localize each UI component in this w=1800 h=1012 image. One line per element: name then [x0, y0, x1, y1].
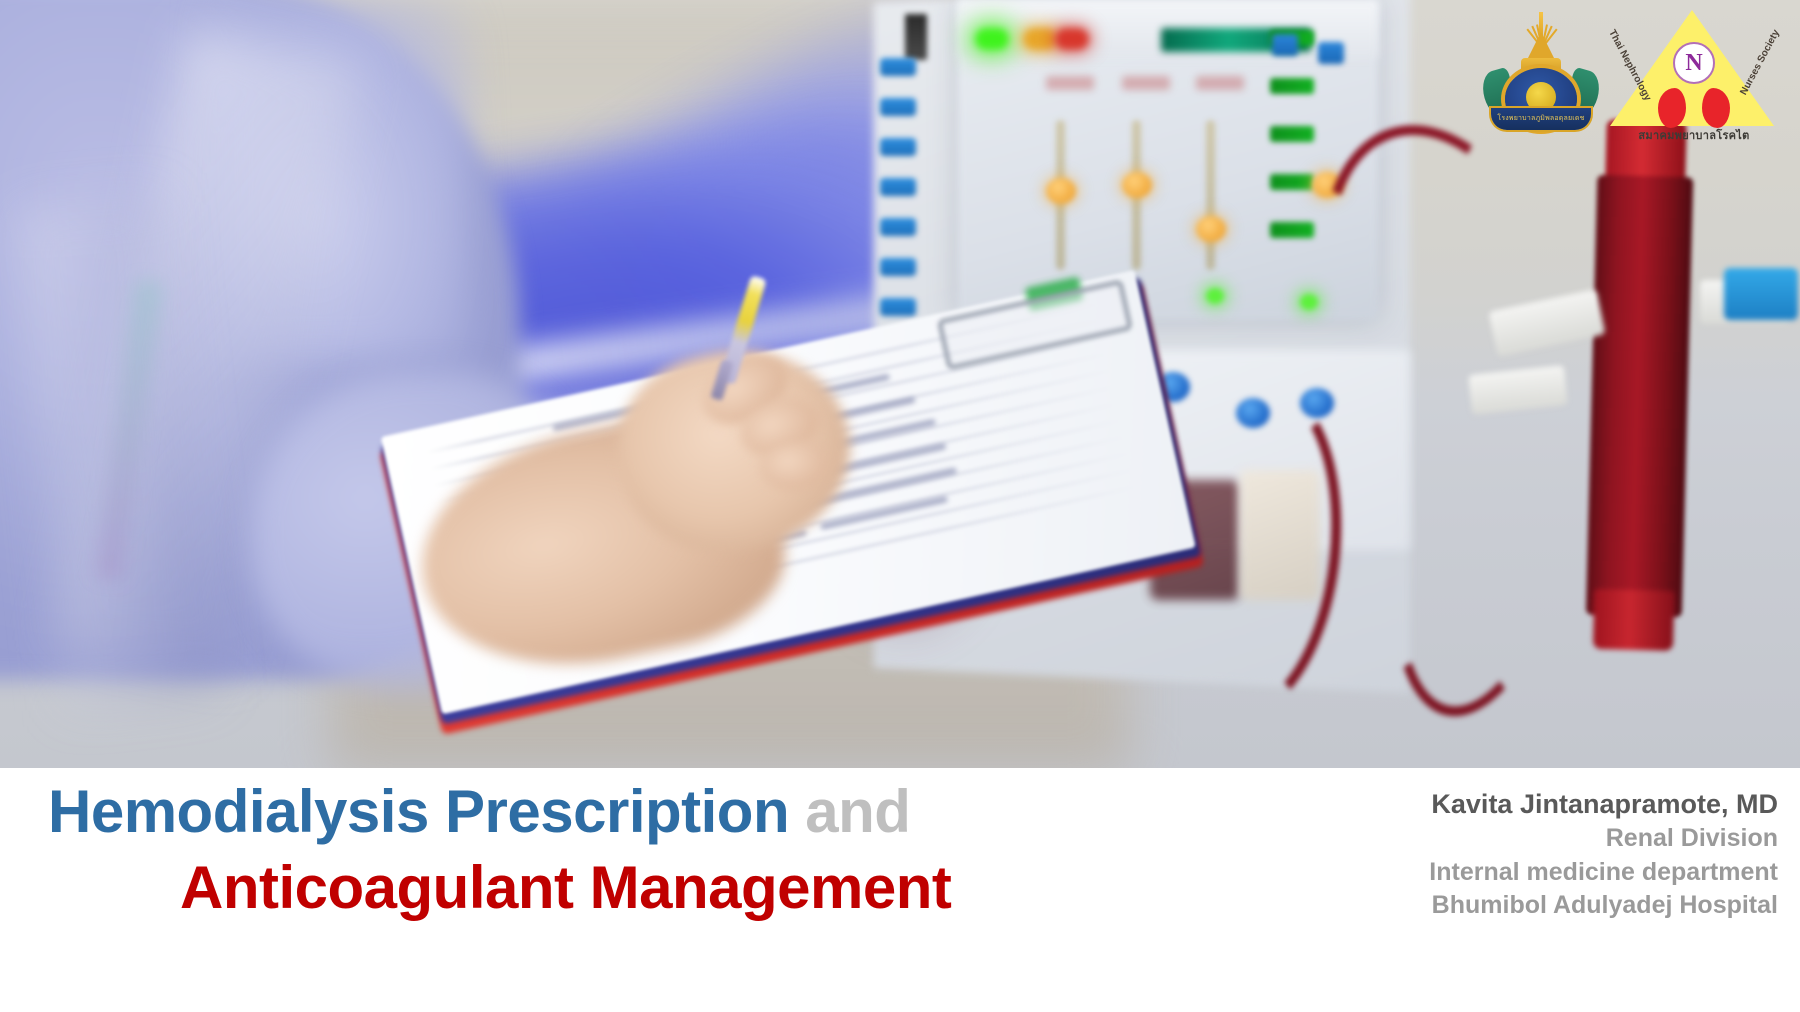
machine-blue-button	[880, 58, 916, 76]
status-led-green-icon	[975, 28, 1009, 50]
machine-blue-button	[880, 298, 916, 316]
status-led-red-icon	[1055, 28, 1089, 50]
machine-blue-button	[880, 218, 916, 236]
affiliation-line-2: Internal medicine department	[1218, 856, 1778, 889]
dial-label	[1196, 76, 1244, 90]
dialyzer-blood-chamber	[1586, 175, 1693, 617]
machine-blue-button	[880, 138, 916, 156]
machine-left-label	[905, 14, 927, 60]
bhumibol-adulyadej-hospital-crest-logo: โรงพยาบาลภูมิพลอดุลยเดช	[1482, 6, 1600, 134]
title-line-2: Anticoagulant Management	[0, 856, 1180, 920]
machine-blue-square	[1272, 34, 1298, 56]
machine-green-indicator	[1270, 126, 1314, 142]
logo-n-circle-icon: N	[1673, 42, 1715, 84]
machine-blue-button	[880, 178, 916, 196]
machine-blue-button	[880, 258, 916, 276]
status-led-amber-icon	[1023, 28, 1057, 50]
dial-label	[1046, 76, 1094, 90]
title-slide: โรงพยาบาลภูมิพลอดุลยเดช Thai Nephrology …	[0, 0, 1800, 1012]
affiliation-line-3: Bhumibol Adulyadej Hospital	[1218, 889, 1778, 922]
slider-knob	[1046, 178, 1076, 204]
slider-track	[1206, 120, 1215, 270]
title-primary-text: Hemodialysis Prescription	[48, 778, 789, 845]
author-block: Kavita Jintanapramote, MD Renal Division…	[1218, 786, 1778, 922]
machine-green-indicator	[1270, 174, 1314, 190]
slider-knob	[1196, 216, 1226, 242]
machine-blue-button	[880, 98, 916, 116]
crest-ribbon-text: โรงพยาบาลภูมิพลอดุลยเดช	[1491, 108, 1591, 130]
dialyzer-cap-bottom	[1593, 589, 1675, 651]
kidney-right-icon	[1702, 88, 1730, 128]
machine-green-indicator	[1270, 222, 1314, 238]
title-conjunction-text: and	[805, 778, 910, 845]
crest-ribbon: โรงพยาบาลภูมิพลอดุลยเดช	[1491, 108, 1591, 130]
logo-center-letter: N	[1685, 51, 1702, 75]
logo-group: โรงพยาบาลภูมิพลอดุลยเดช Thai Nephrology …	[1482, 6, 1778, 142]
machine-green-indicator	[1270, 78, 1314, 94]
affiliation-line-1: Renal Division	[1218, 822, 1778, 855]
author-name: Kavita Jintanapramote, MD	[1218, 786, 1778, 822]
thai-nephrology-nurses-society-logo: Thai Nephrology Nurses Society N สมาคมพย…	[1610, 6, 1778, 142]
logo-thai-caption: สมาคมพยาบาลโรคไต	[1610, 126, 1778, 144]
machine-blue-square	[1318, 42, 1344, 64]
dial-label	[1122, 76, 1170, 90]
title-line-1: Hemodialysis Prescription and	[0, 780, 1180, 844]
slider-knob	[1122, 172, 1152, 198]
hero-photo-hemodialysis-unit: โรงพยาบาลภูมิพลอดุลยเดช Thai Nephrology …	[0, 0, 1800, 768]
machine-green-dot-icon	[1300, 294, 1318, 310]
machine-green-dot-icon	[1206, 288, 1224, 304]
dialyzer-cartridge	[1585, 119, 1695, 641]
tubing-connector-blue	[1724, 268, 1798, 320]
title-text-band: Hemodialysis Prescription and Anticoagul…	[0, 768, 1800, 1012]
title-block: Hemodialysis Prescription and Anticoagul…	[0, 768, 1180, 919]
